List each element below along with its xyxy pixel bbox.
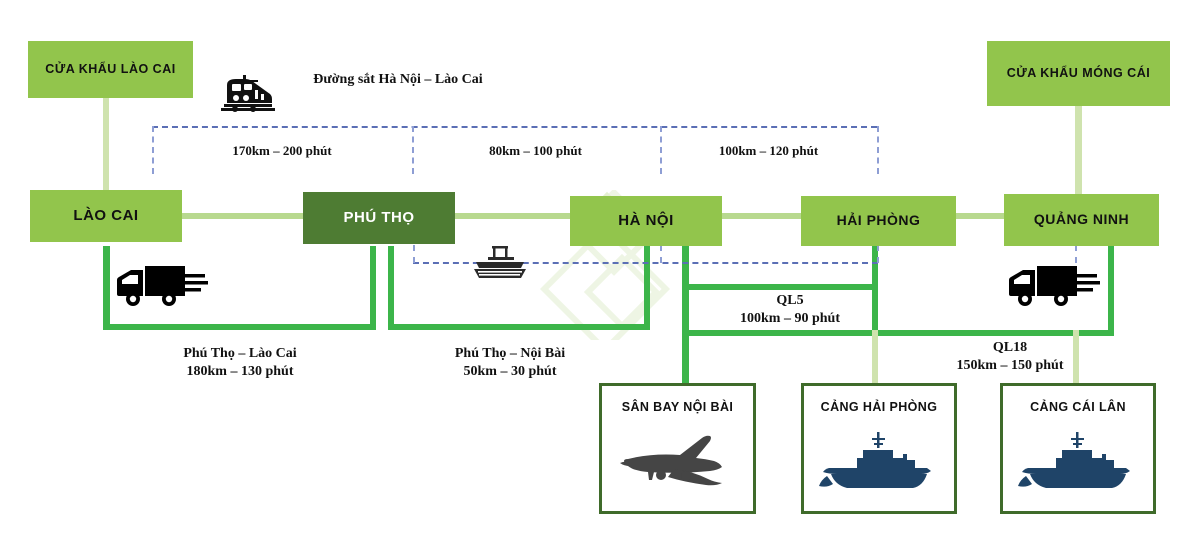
node-cua-khau-lao-cai[interactable]: CỬA KHẨU LÀO CAI — [28, 41, 193, 98]
connector-phu-tho-ha-noi — [453, 213, 573, 219]
route-label-ql5: QL5 100km – 90 phút — [690, 292, 890, 327]
connector-ha-noi-hai-phong — [722, 213, 802, 219]
boat-icon — [468, 244, 530, 284]
node-ha-noi[interactable]: HÀ NỘI — [570, 196, 722, 246]
node-phu-tho[interactable]: PHÚ THỌ — [303, 192, 455, 244]
route-metrics: 150km – 150 phút — [910, 357, 1110, 375]
route-metrics: 180km – 130 phút — [120, 363, 360, 381]
node-quang-ninh[interactable]: QUẢNG NINH — [1004, 194, 1159, 246]
ship-icon — [1016, 430, 1141, 496]
node-label: PHÚ THỌ — [344, 210, 415, 227]
road-lao-cai-phu-tho-horizontal — [103, 324, 376, 330]
road-hai-phong-drop — [872, 330, 878, 384]
facility-label: CẢNG CÁI LÂN — [1030, 400, 1126, 414]
airplane-icon — [618, 432, 738, 494]
facility-figure — [1003, 414, 1153, 511]
node-label: QUẢNG NINH — [1034, 212, 1129, 227]
facility-figure — [804, 414, 954, 511]
rail-dash-quang-ninh-drop — [1075, 245, 1077, 263]
route-label-phu-tho-noi-bai: Phú Thọ – Nội Bài 50km – 30 phút — [400, 345, 620, 380]
rail-dash-lower-hanoi — [660, 245, 662, 263]
rail-dash-lower-left — [413, 245, 415, 263]
route-name: Phú Thọ – Nội Bài — [400, 345, 620, 363]
rail-dash-lower-right — [877, 245, 879, 263]
connector-lao-cai-phu-tho — [178, 213, 308, 219]
truck-icon — [113, 262, 208, 310]
route-metrics: 100km – 90 phút — [690, 310, 890, 328]
connector-gate-mong-cai — [1075, 105, 1082, 195]
facility-label: CẢNG HẢI PHÒNG — [821, 400, 938, 414]
route-label-phu-tho-lao-cai: Phú Thọ – Lào Cai 180km – 130 phút — [120, 345, 360, 380]
node-lao-cai[interactable]: LÀO CAI — [30, 190, 182, 242]
route-name: Phú Thọ – Lào Cai — [120, 345, 360, 363]
rail-dash-tick-phu-tho — [412, 126, 414, 174]
node-label: HÀ NỘI — [618, 213, 674, 230]
road-phu-tho-noi-bai-horizontal — [388, 324, 650, 330]
node-label: HẢI PHÒNG — [837, 213, 921, 228]
route-name: QL18 — [910, 339, 1110, 357]
road-quang-ninh-vertical — [1108, 246, 1114, 336]
facility-cang-cai-lan[interactable]: CẢNG CÁI LÂN — [1000, 383, 1156, 514]
rail-segment-label-phu-tho-ha-noi: 80km – 100 phút — [428, 143, 643, 159]
node-label: CỬA KHẨU LÀO CAI — [45, 63, 175, 77]
rail-dashed-line — [152, 126, 877, 128]
node-label: CỬA KHẨU MÓNG CÁI — [1007, 67, 1150, 81]
node-label: LÀO CAI — [73, 208, 138, 225]
route-name: QL5 — [690, 292, 890, 310]
connector-gate-lao-cai — [103, 95, 109, 195]
route-metrics: 50km – 30 phút — [400, 363, 620, 381]
road-ha-noi-to-noi-bai — [682, 246, 689, 384]
connector-hai-phong-quang-ninh — [955, 213, 1005, 219]
road-ha-noi-vertical-left — [644, 246, 650, 330]
facility-figure — [602, 414, 753, 511]
truck-icon — [1005, 262, 1100, 310]
facility-cang-hai-phong[interactable]: CẢNG HẢI PHÒNG — [801, 383, 957, 514]
transport-network-diagram: CỬA KHẨU LÀO CAI CỬA KHẨU MÓNG CÁI LÀO C… — [0, 0, 1200, 533]
facility-label: SÂN BAY NỘI BÀI — [622, 400, 734, 414]
rail-title: Đường sắt Hà Nội – Lào Cai — [288, 71, 508, 89]
road-ql18-horizontal — [682, 330, 1114, 336]
node-hai-phong[interactable]: HẢI PHÒNG — [801, 196, 956, 246]
road-ql5-horizontal — [682, 284, 878, 290]
facility-san-bay-noi-bai[interactable]: SÂN BAY NỘI BÀI — [599, 383, 756, 514]
rail-segment-label-lao-cai-phu-tho: 170km – 200 phút — [172, 143, 392, 159]
road-lao-cai-vertical — [103, 246, 110, 330]
road-phu-tho-vertical-right — [388, 246, 394, 330]
rail-dash-left-drop — [152, 126, 154, 174]
ship-icon — [817, 430, 942, 496]
rail-segment-label-ha-noi-quang-ninh: 100km – 120 phút — [656, 143, 881, 159]
train-icon — [219, 73, 277, 115]
route-label-ql18: QL18 150km – 150 phút — [910, 339, 1110, 374]
road-phu-tho-vertical-left — [370, 246, 376, 330]
node-cua-khau-mong-cai[interactable]: CỬA KHẨU MÓNG CÁI — [987, 41, 1170, 106]
